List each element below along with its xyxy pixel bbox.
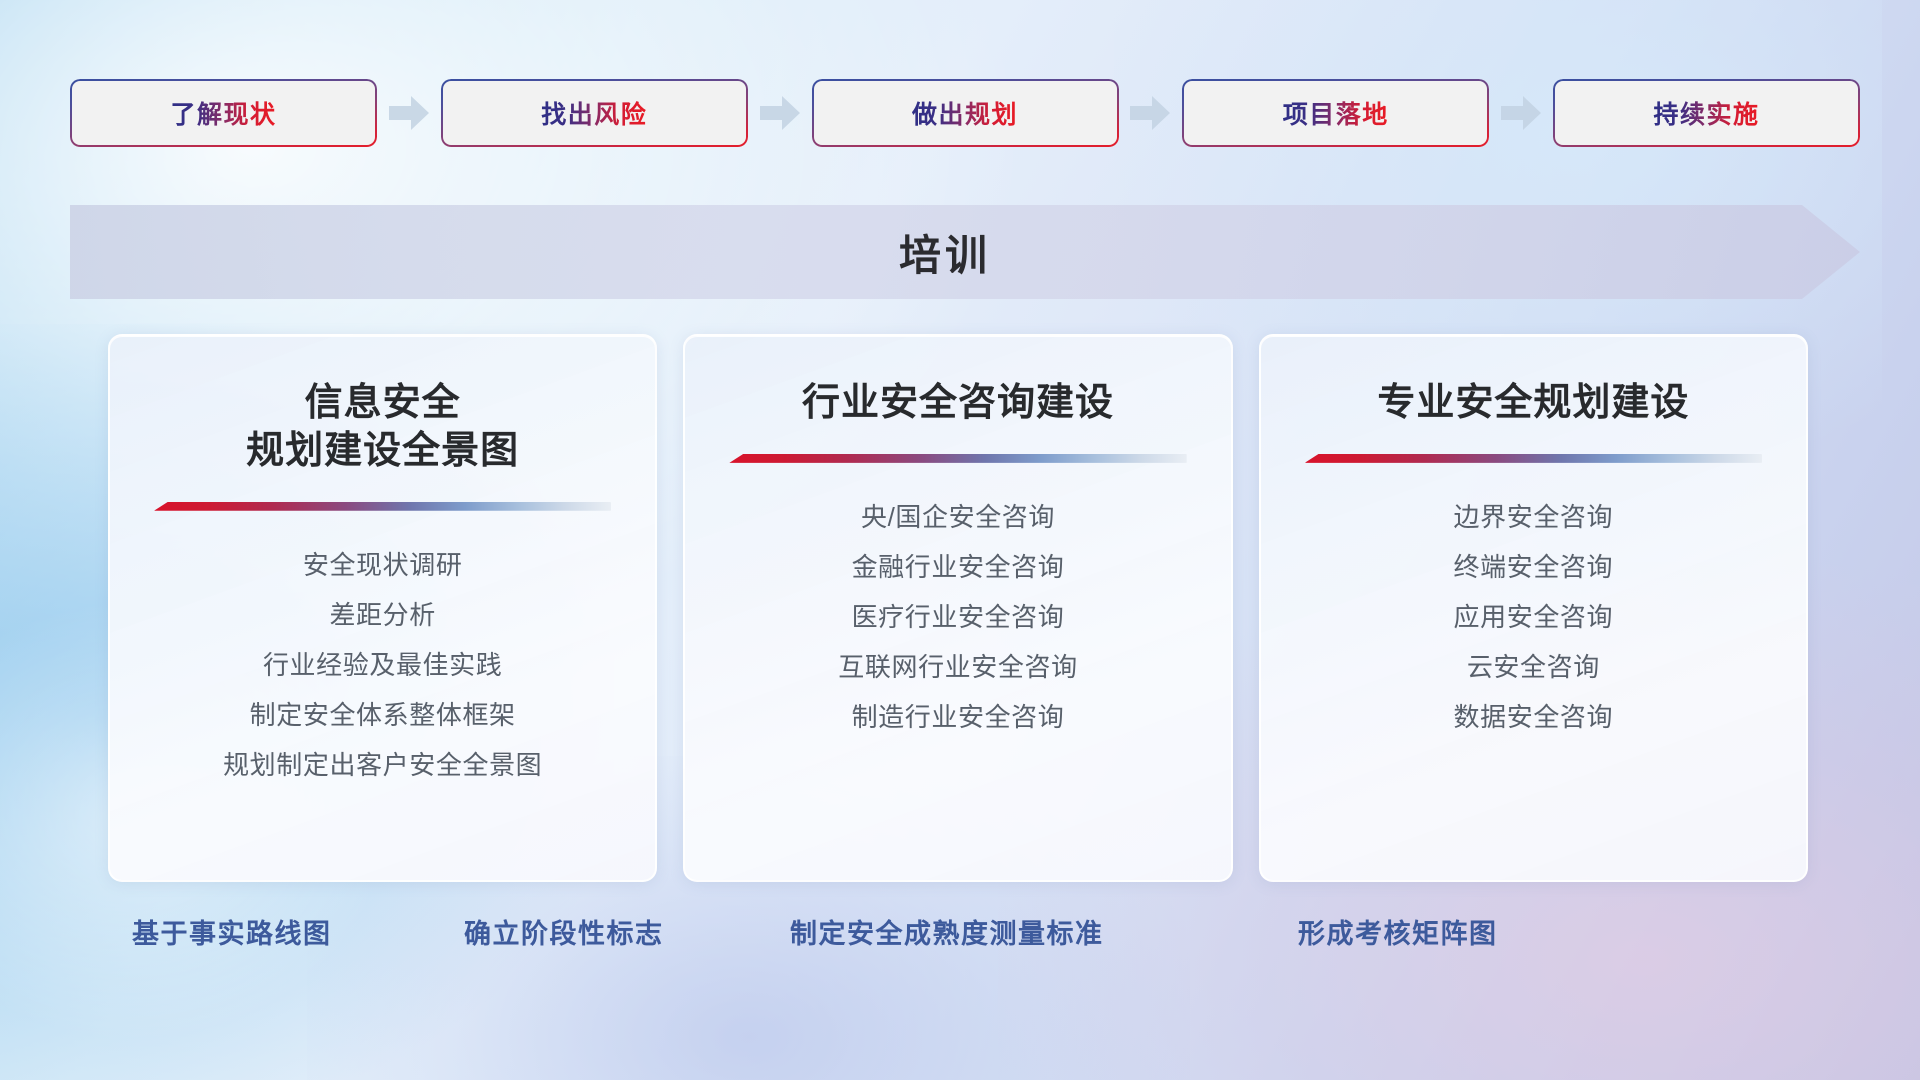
list-item: 差距分析 bbox=[329, 595, 435, 636]
step-chip-5[interactable]: 持续实施 bbox=[1553, 79, 1860, 147]
step-chip-2[interactable]: 找出风险 bbox=[441, 79, 748, 147]
list-item: 数据安全咨询 bbox=[1454, 697, 1614, 738]
bottom-label-milestones: 确立阶段性标志 bbox=[464, 912, 664, 951]
card-divider bbox=[154, 502, 611, 511]
bottom-label-roadmap: 基于事实路线图 bbox=[132, 912, 332, 951]
list-item: 央/国企安全咨询 bbox=[861, 497, 1055, 538]
card-bottom-accent bbox=[108, 880, 657, 882]
list-item: 终端安全咨询 bbox=[1454, 547, 1614, 588]
step-label: 了解现状 bbox=[170, 95, 276, 131]
process-steps-row: 了解现状 找出风险 做出规划 项目落地 持续实施 bbox=[70, 78, 1860, 148]
card-bottom-accent bbox=[683, 880, 1232, 882]
step-label: 做出规划 bbox=[912, 95, 1018, 131]
card-right-accent bbox=[1231, 342, 1233, 876]
bottom-label-assessment-matrix: 形成考核矩阵图 bbox=[1298, 912, 1498, 951]
list-item: 行业经验及最佳实践 bbox=[263, 645, 502, 686]
card-right-accent bbox=[1806, 342, 1808, 876]
card-list: 安全现状调研 差距分析 行业经验及最佳实践 制定安全体系整体框架 规划制定出客户… bbox=[136, 545, 629, 786]
list-item: 制定安全体系整体框架 bbox=[250, 695, 516, 736]
step-chip-3[interactable]: 做出规划 bbox=[812, 79, 1119, 147]
cards-row: 信息安全 规划建设全景图 安全现状调研 差距分析 行业经验及最佳实践 制定安全体… bbox=[108, 334, 1808, 882]
list-item: 应用安全咨询 bbox=[1454, 597, 1614, 638]
list-item: 医疗行业安全咨询 bbox=[852, 597, 1065, 638]
card-list: 边界安全咨询 终端安全咨询 应用安全咨询 云安全咨询 数据安全咨询 bbox=[1287, 497, 1780, 738]
card-title: 专业安全规划建设 bbox=[1377, 380, 1689, 428]
step-chip-4[interactable]: 项目落地 bbox=[1182, 79, 1489, 147]
list-item: 安全现状调研 bbox=[303, 545, 463, 586]
card-left-accent bbox=[1259, 342, 1261, 876]
card-information-security-panorama[interactable]: 信息安全 规划建设全景图 安全现状调研 差距分析 行业经验及最佳实践 制定安全体… bbox=[108, 334, 657, 882]
card-list: 央/国企安全咨询 金融行业安全咨询 医疗行业安全咨询 互联网行业安全咨询 制造行… bbox=[711, 497, 1204, 738]
list-item: 边界安全咨询 bbox=[1454, 497, 1614, 538]
bottom-label-maturity-standard: 制定安全成熟度测量标准 bbox=[790, 912, 1104, 951]
step-label: 持续实施 bbox=[1653, 95, 1759, 131]
right-arrow-icon bbox=[760, 96, 800, 130]
list-item: 互联网行业安全咨询 bbox=[838, 647, 1077, 688]
card-divider bbox=[729, 454, 1186, 463]
card-title: 信息安全 规划建设全景图 bbox=[246, 380, 519, 476]
bottom-labels-row: 基于事实路线图 确立阶段性标志 制定安全成熟度测量标准 形成考核矩阵图 bbox=[0, 912, 1920, 964]
step-label: 找出风险 bbox=[541, 95, 647, 131]
list-item: 金融行业安全咨询 bbox=[852, 547, 1065, 588]
training-banner: 培训 bbox=[70, 205, 1860, 299]
list-item: 制造行业安全咨询 bbox=[852, 697, 1065, 738]
banner-title: 培训 bbox=[70, 205, 1860, 299]
card-divider bbox=[1305, 454, 1762, 463]
list-item: 规划制定出客户安全全景图 bbox=[223, 745, 542, 786]
card-left-accent bbox=[683, 342, 685, 876]
card-left-accent bbox=[108, 342, 110, 876]
step-chip-1[interactable]: 了解现状 bbox=[70, 79, 377, 147]
card-right-accent bbox=[655, 342, 657, 876]
right-arrow-icon bbox=[1130, 96, 1170, 130]
card-title: 行业安全咨询建设 bbox=[802, 380, 1114, 428]
card-industry-security-consulting[interactable]: 行业安全咨询建设 央/国企安全咨询 金融行业安全咨询 医疗行业安全咨询 互联网行… bbox=[683, 334, 1232, 882]
step-label: 项目落地 bbox=[1283, 95, 1389, 131]
card-bottom-accent bbox=[1259, 880, 1808, 882]
card-professional-security-planning[interactable]: 专业安全规划建设 边界安全咨询 终端安全咨询 应用安全咨询 云安全咨询 数据安全… bbox=[1259, 334, 1808, 882]
right-arrow-icon bbox=[1501, 96, 1541, 130]
right-arrow-icon bbox=[389, 96, 429, 130]
list-item: 云安全咨询 bbox=[1467, 647, 1600, 688]
